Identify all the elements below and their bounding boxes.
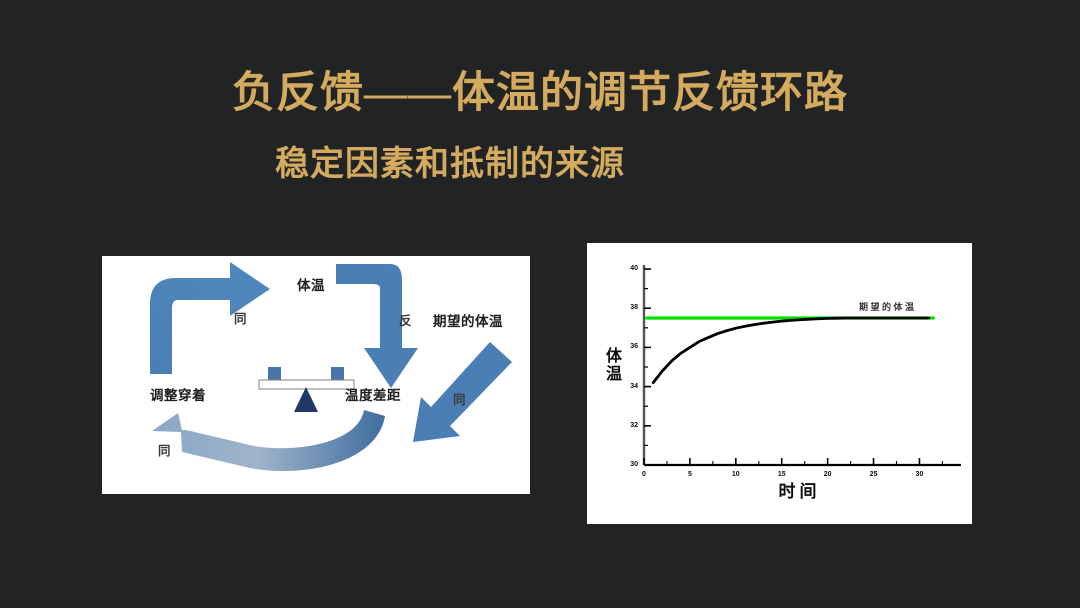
loop-sign-same-bottom: 同 [158,440,171,459]
chart-x-tick-label: 20 [818,471,838,478]
chart-x-tick-label: 30 [909,471,929,478]
chart-x-axis-label: 时间 [587,477,972,502]
chart-x-tick-label: 10 [726,471,746,478]
loop-node-desired-temp: 期望的体温 [433,310,503,330]
loop-sign-same-top: 同 [234,308,247,327]
chart-x-tick-label: 15 [772,471,792,478]
chart-annotation-desired-temp: 期望的体温 [859,300,917,313]
arrow-gap-to-adjust [152,410,385,471]
loop-node-temp-gap: 温度差距 [345,384,401,404]
page-subtitle: 稳定因素和抵制的来源 [0,148,1080,182]
chart-x-tick-label: 0 [634,471,654,478]
feedback-loop-panel: 体温 期望的体温 温度差距 调整穿着 同 反 同 同 [102,256,530,494]
chart-y-axis-label: 体温 [599,347,623,383]
balance-scale-icon [259,367,354,412]
chart-y-tick-label: 34 [622,383,638,390]
chart-y-tick-label: 36 [622,343,638,350]
chart-x-tick-label: 25 [864,471,884,478]
loop-node-body-temp: 体温 [297,274,325,294]
loop-node-adjust-clothes: 调整穿着 [150,384,206,404]
chart-series-group [647,318,933,383]
chart-y-tick-label: 30 [622,461,638,468]
page-title: 负反馈——体温的调节反馈环路 [0,72,1080,115]
chart-y-tick-label: 32 [622,422,638,429]
chart-axes [644,265,961,465]
loop-sign-opposite: 反 [399,310,412,329]
loop-sign-same-right: 同 [453,389,466,408]
chart-y-tick-label: 40 [622,265,638,272]
temperature-chart-panel: 体温 时间 期望的体温 303234363840051015202530 [587,243,972,524]
chart-y-tick-label: 38 [622,304,638,311]
arrow-adjust-to-bodytemp [150,262,270,374]
chart-x-tick-label: 5 [680,471,700,478]
